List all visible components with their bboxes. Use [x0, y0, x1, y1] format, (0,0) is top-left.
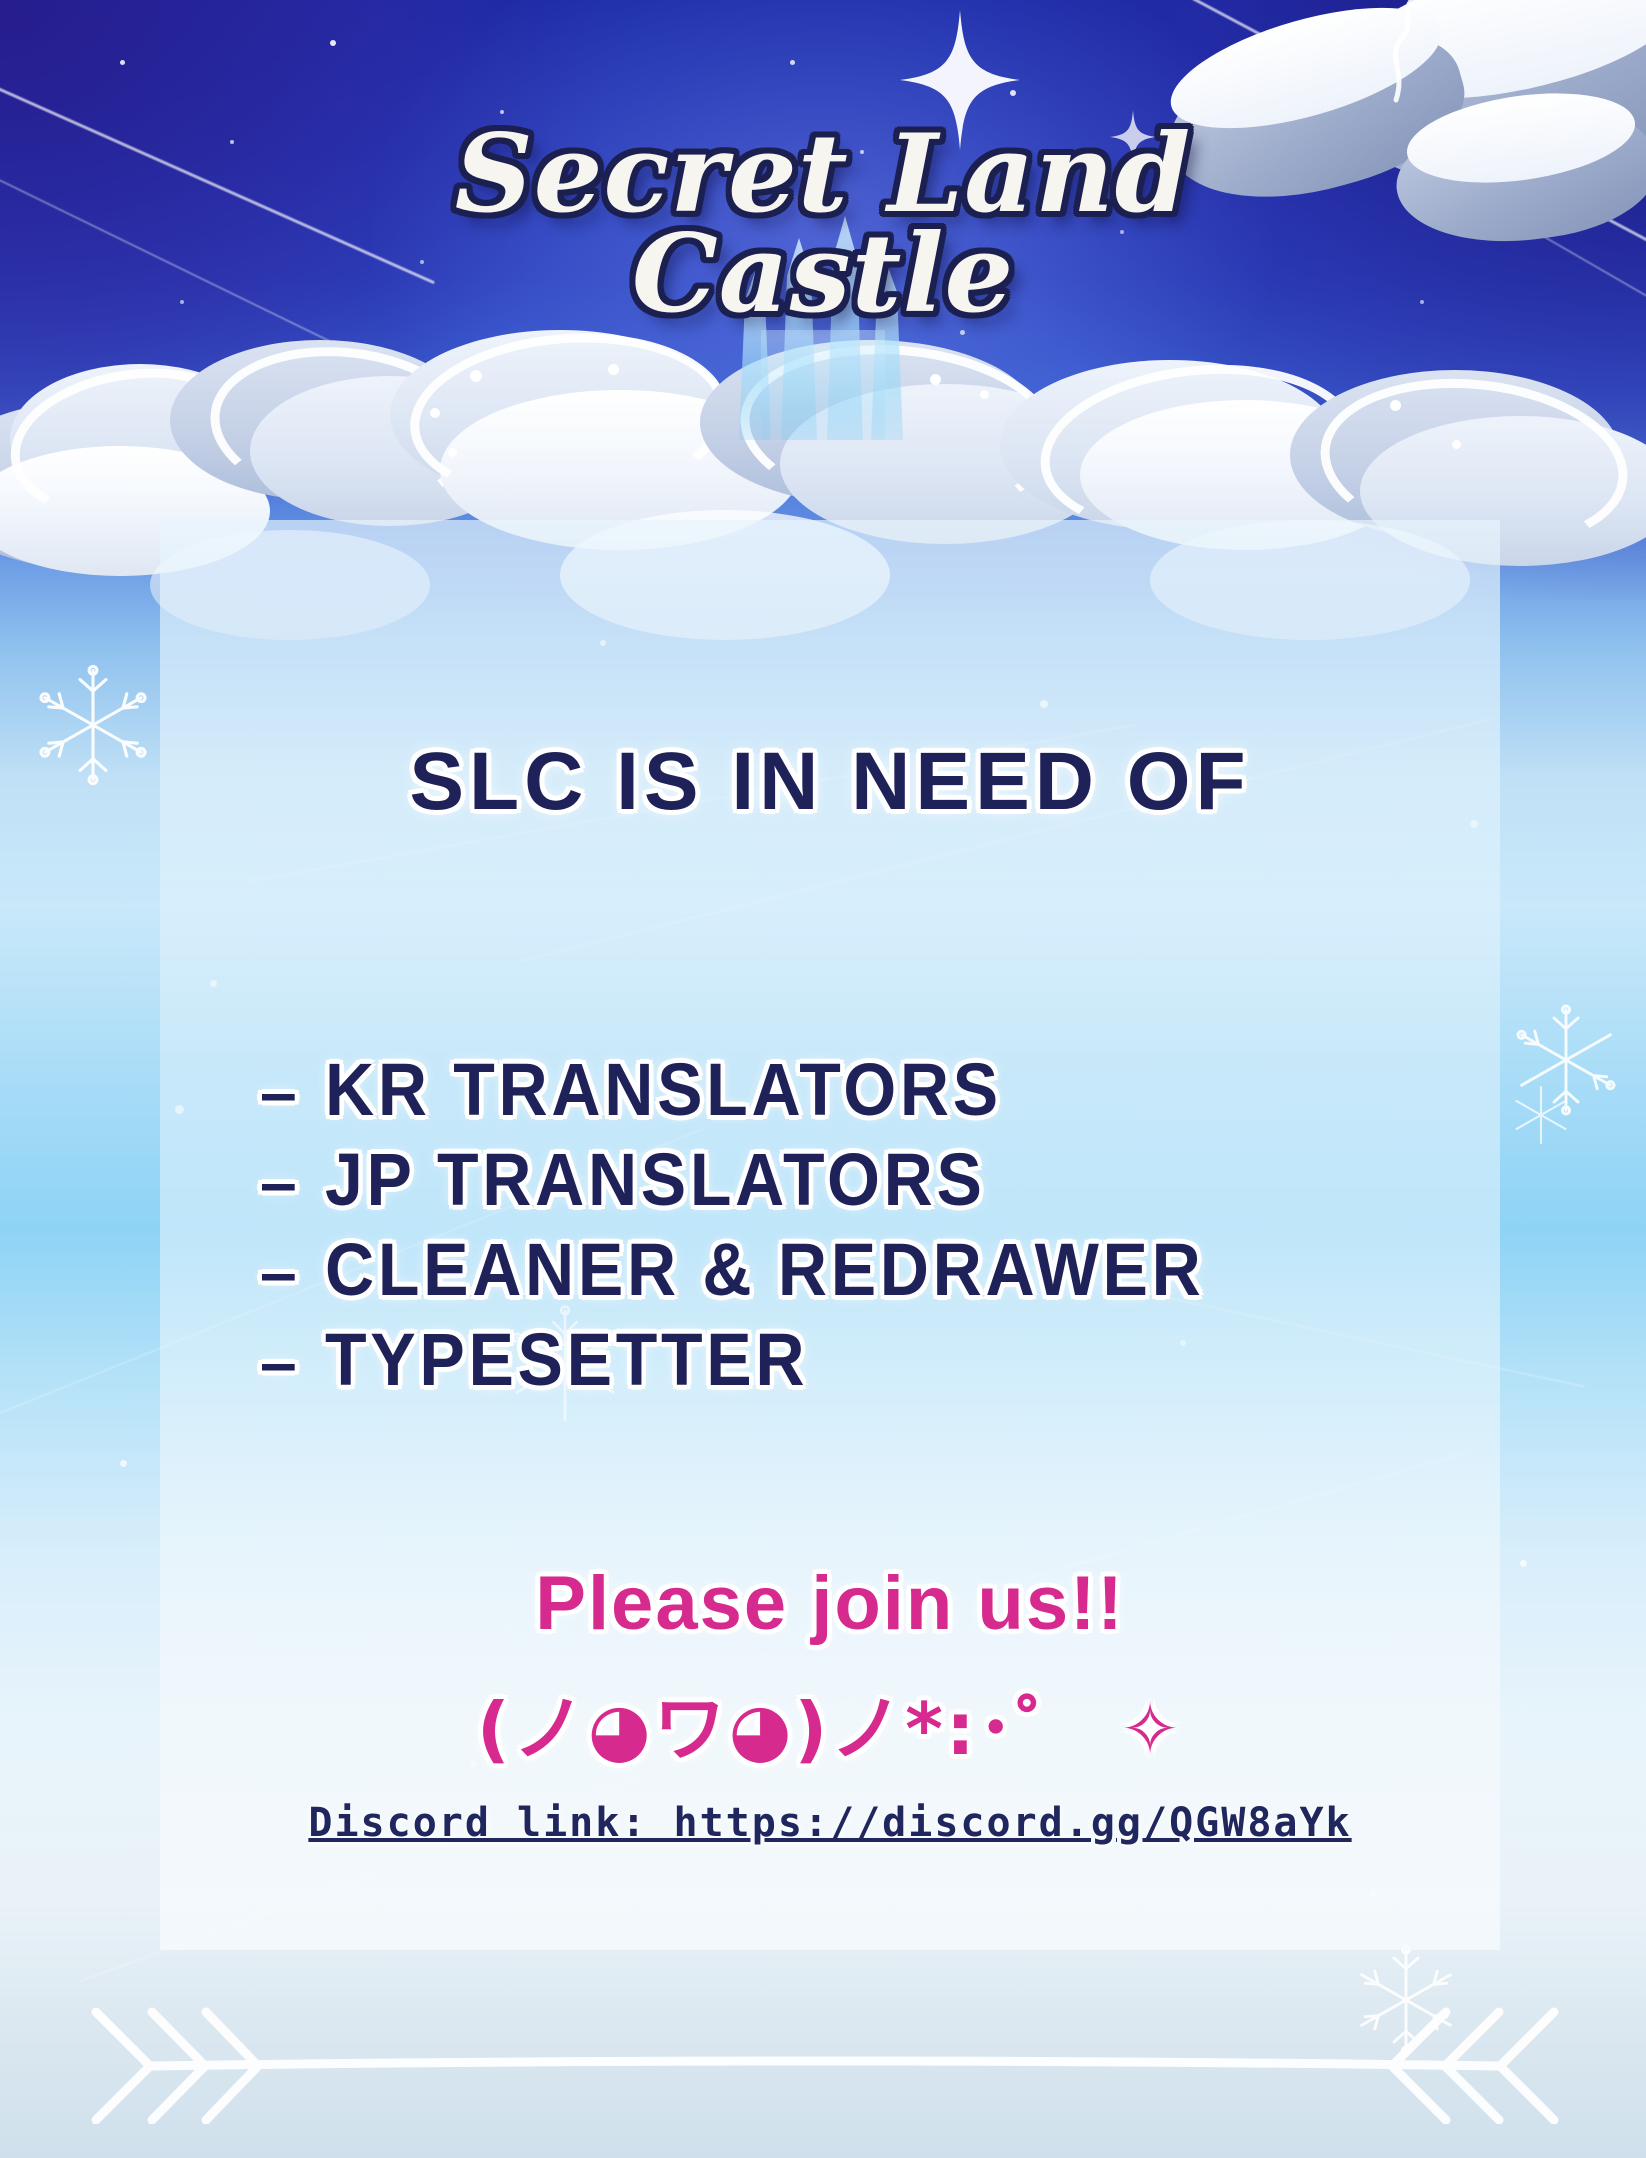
list-item-label: JP TRANSLATORS [325, 1140, 986, 1220]
cloud-icon [1390, 400, 1401, 411]
cloud-icon [470, 370, 482, 382]
arrow-divider-icon [0, 2004, 1646, 2124]
cloud-icon [170, 340, 470, 500]
snow-speck [120, 1460, 127, 1467]
bullet-dash-icon: – [260, 1059, 297, 1125]
kaomoji-decoration: (ノ◕ワ◕)ノ*:･゜ ✧ [160, 1670, 1500, 1775]
list-item-label: CLEANER & REDRAWER [325, 1230, 1204, 1310]
cloud-icon [405, 323, 734, 513]
snowy-rock-icon [1376, 0, 1496, 110]
bullet-dash-icon: – [260, 1149, 297, 1215]
cloud-icon [733, 332, 1064, 527]
cloud-icon [10, 364, 270, 514]
cloud-icon [448, 448, 457, 457]
needs-list: – KR TRANSLATORS – JP TRANSLATORS – CLEA… [260, 1050, 1420, 1410]
poster-title: Secret Land Castle [0, 120, 1646, 328]
cloud-icon [1452, 440, 1461, 449]
cloud-icon [202, 334, 485, 519]
content-panel: SLC IS IN NEED OF – KR TRANSLATORS – JP … [160, 520, 1500, 1950]
cloud-icon [980, 390, 989, 399]
star-icon [120, 60, 125, 65]
cloud-icon [390, 330, 730, 500]
list-item: – CLEANER & REDRAWER [260, 1230, 1420, 1310]
cloud-icon [430, 408, 440, 418]
list-item: – JP TRANSLATORS [260, 1140, 1420, 1220]
cloud-icon [1000, 360, 1340, 530]
star-icon [1010, 90, 1016, 96]
star-icon [790, 60, 795, 65]
snowflake-icon [1506, 1080, 1576, 1150]
bullet-dash-icon: – [260, 1329, 297, 1395]
list-item: – KR TRANSLATORS [260, 1050, 1420, 1130]
list-item-label: TYPESETTER [325, 1320, 808, 1400]
cloud-icon [1290, 370, 1620, 540]
cloud-icon [608, 364, 619, 375]
list-item-label: KR TRANSLATORS [325, 1050, 1002, 1130]
list-item: – TYPESETTER [260, 1320, 1420, 1400]
recruitment-poster: Secret Land Castle SLC IS IN NEED OF – K… [0, 0, 1646, 2158]
snowflake-icon [1346, 1940, 1466, 2060]
snowflake-icon [1506, 1000, 1626, 1120]
star-icon [330, 40, 336, 46]
bullet-dash-icon: – [260, 1239, 297, 1305]
snowflake-icon [28, 660, 158, 790]
page-title: SLC IS IN NEED OF [160, 735, 1500, 829]
snow-speck [1520, 1560, 1527, 1567]
cloud-icon [250, 376, 530, 526]
discord-link[interactable]: Discord link: https://discord.gg/QGW8aYk [160, 1800, 1500, 1846]
cloud-icon [1, 353, 267, 534]
title-line-2: Castle [0, 220, 1646, 328]
cloud-icon [700, 340, 1040, 505]
call-to-action-text: Please join us!! [160, 1560, 1500, 1647]
cloud-icon [930, 374, 941, 385]
